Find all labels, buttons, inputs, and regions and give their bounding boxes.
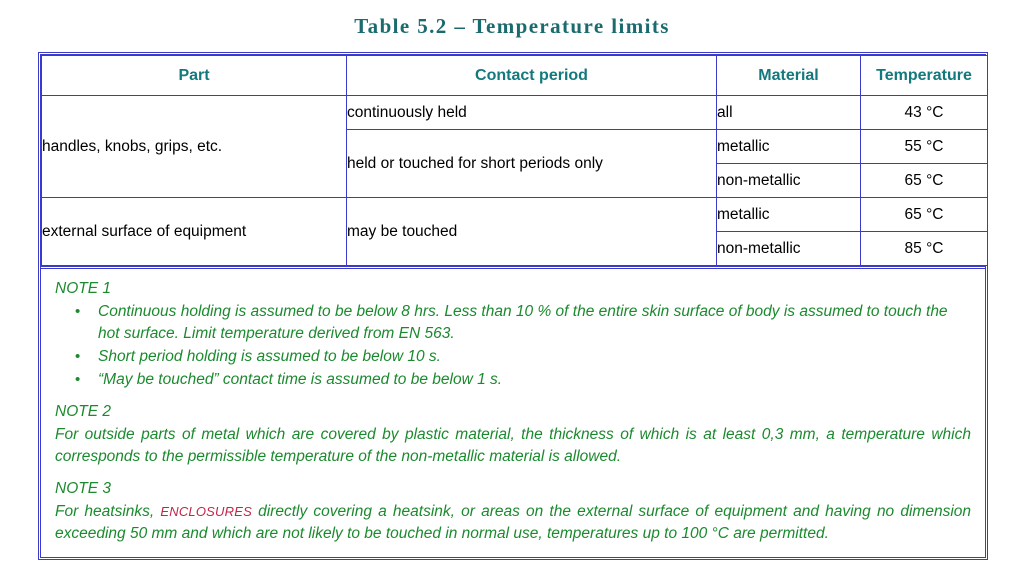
note-2-heading: NOTE 2 bbox=[55, 402, 971, 422]
cell-part-handles: handles, knobs, grips, etc. bbox=[42, 96, 347, 198]
bullet-icon: • bbox=[75, 301, 80, 322]
note-2-text: For outside parts of metal which are cov… bbox=[55, 424, 971, 468]
cell-contact-continuously-held: continuously held bbox=[347, 96, 717, 130]
cell-material-metallic: metallic bbox=[717, 198, 861, 232]
cell-material-non-metallic: non-metallic bbox=[717, 232, 861, 266]
list-item: • “May be touched” contact time is assum… bbox=[55, 369, 971, 391]
table-caption: Table 5.2 – Temperature limits bbox=[0, 14, 1024, 39]
table-header-row: Part Contact period Material Temperature bbox=[42, 56, 988, 96]
cell-part-external-surface: external surface of equipment bbox=[42, 198, 347, 266]
note-1-heading: NOTE 1 bbox=[55, 279, 971, 299]
temperature-limits-table-frame: Part Contact period Material Temperature… bbox=[38, 52, 988, 560]
cell-temperature-55: 55 °C bbox=[861, 130, 988, 164]
note-1-bullet-text: Short period holding is assumed to be be… bbox=[98, 348, 441, 365]
note-3-emphasis-enclosures: ENCLOSURES bbox=[160, 504, 252, 519]
cell-material-metallic: metallic bbox=[717, 130, 861, 164]
cell-temperature-43: 43 °C bbox=[861, 96, 988, 130]
cell-material-non-metallic: non-metallic bbox=[717, 164, 861, 198]
column-header-material: Material bbox=[717, 56, 861, 96]
note-1-bullet-list: • Continuous holding is assumed to be be… bbox=[55, 301, 971, 391]
cell-material-all: all bbox=[717, 96, 861, 130]
note-2-block: NOTE 2 For outside parts of metal which … bbox=[55, 402, 971, 468]
temperature-limits-table: Part Contact period Material Temperature… bbox=[41, 55, 988, 266]
note-3-text-before: For heatsinks, bbox=[55, 503, 160, 520]
column-header-part: Part bbox=[42, 56, 347, 96]
list-item: • Short period holding is assumed to be … bbox=[55, 346, 971, 368]
cell-contact-short-periods: held or touched for short periods only bbox=[347, 130, 717, 198]
bullet-icon: • bbox=[75, 346, 80, 367]
cell-contact-may-be-touched: may be touched bbox=[347, 198, 717, 266]
document-page: Table 5.2 – Temperature limits Part Cont… bbox=[0, 0, 1024, 566]
bullet-icon: • bbox=[75, 369, 80, 390]
table-row: external surface of equipment may be tou… bbox=[42, 198, 988, 232]
note-3-block: NOTE 3 For heatsinks, ENCLOSURES directl… bbox=[55, 479, 971, 545]
cell-temperature-85: 85 °C bbox=[861, 232, 988, 266]
note-3-text: For heatsinks, ENCLOSURES directly cover… bbox=[55, 501, 971, 545]
column-header-temperature: Temperature bbox=[861, 56, 988, 96]
cell-temperature-65: 65 °C bbox=[861, 164, 988, 198]
note-1-block: NOTE 1 • Continuous holding is assumed t… bbox=[55, 279, 971, 391]
note-1-bullet-text: “May be touched” contact time is assumed… bbox=[98, 371, 502, 388]
table-row: handles, knobs, grips, etc. continuously… bbox=[42, 96, 988, 130]
cell-temperature-65: 65 °C bbox=[861, 198, 988, 232]
list-item: • Continuous holding is assumed to be be… bbox=[55, 301, 971, 345]
notes-section: NOTE 1 • Continuous holding is assumed t… bbox=[41, 269, 985, 557]
note-1-bullet-text: Continuous holding is assumed to be belo… bbox=[98, 303, 948, 342]
column-header-contact-period: Contact period bbox=[347, 56, 717, 96]
note-3-heading: NOTE 3 bbox=[55, 479, 971, 499]
